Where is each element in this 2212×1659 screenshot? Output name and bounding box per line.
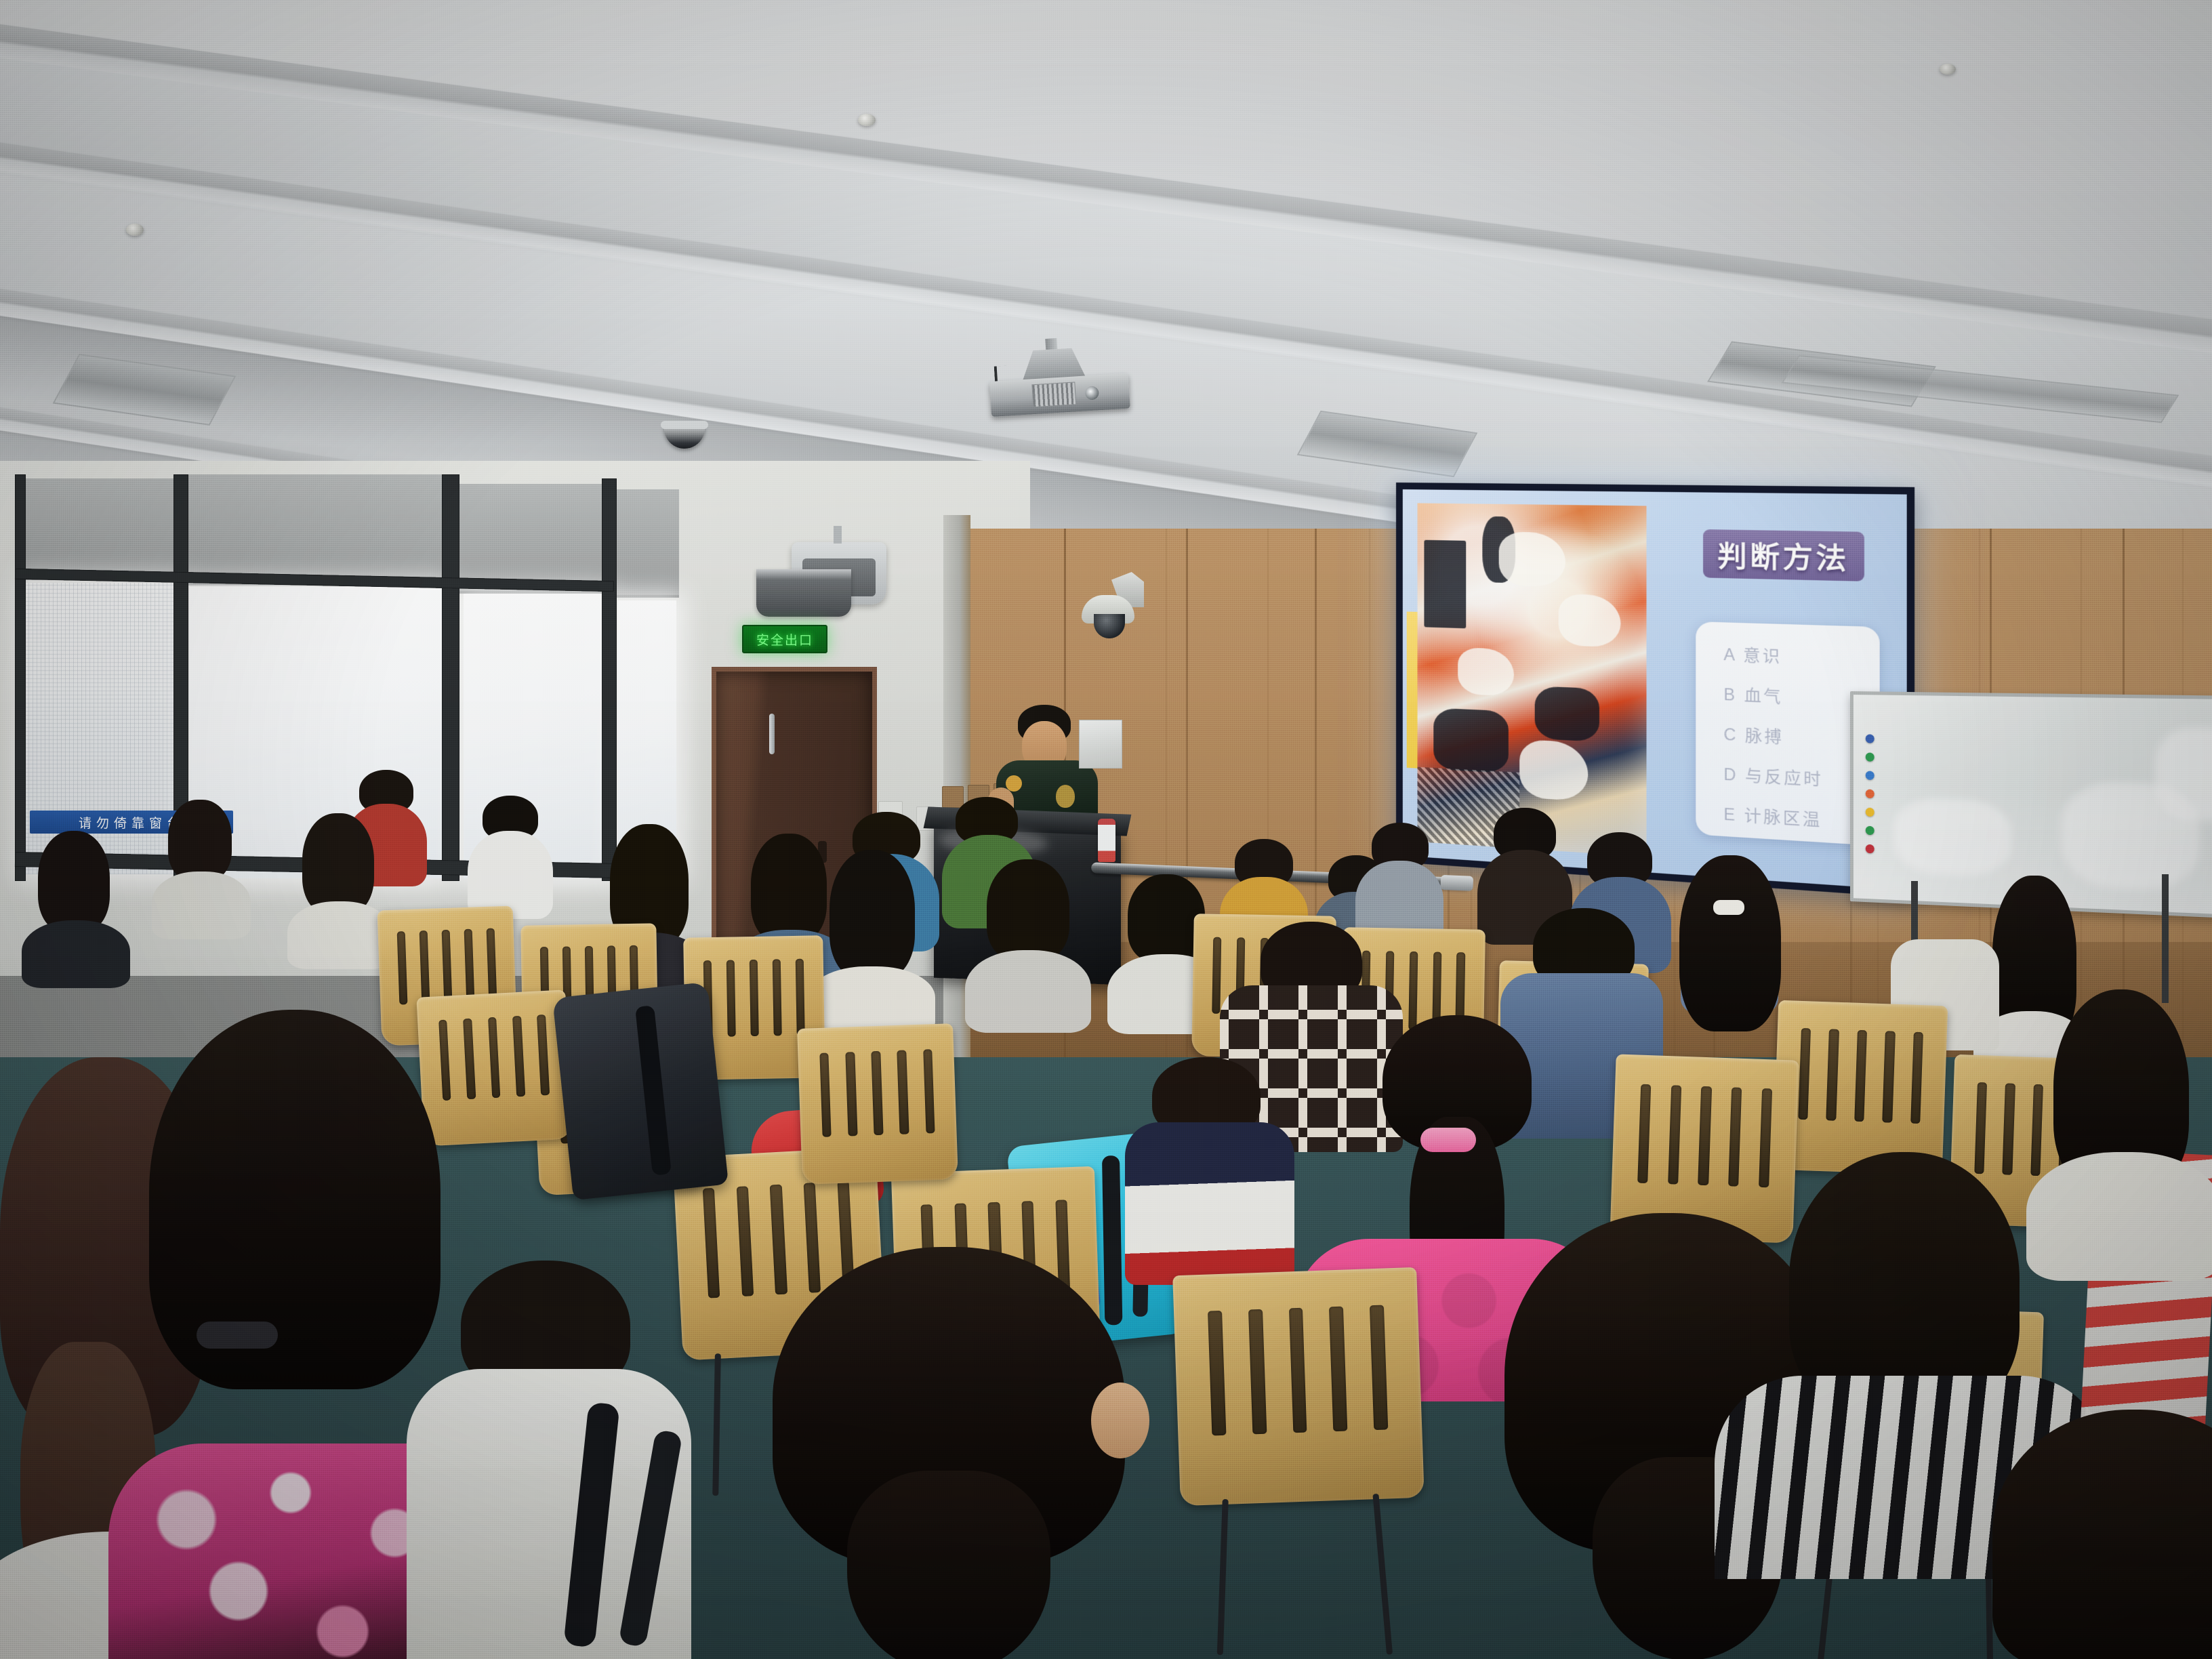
magnet-dot[interactable] [1866, 734, 1875, 743]
backpack-strap [635, 1005, 672, 1176]
ac-mount [834, 526, 842, 544]
audience-member [156, 800, 244, 935]
window-blind[interactable] [458, 484, 609, 594]
audience-member [468, 796, 553, 918]
camera-dome [1094, 614, 1125, 638]
magnet-dot[interactable] [1866, 826, 1875, 835]
audience-member [407, 1261, 691, 1659]
emergency-exit-sign: 安全出口 [742, 625, 827, 653]
door-handle[interactable] [769, 714, 775, 754]
window-blind[interactable] [20, 478, 176, 580]
rail-cap [1440, 875, 1473, 891]
black-backpack[interactable] [552, 982, 729, 1200]
ceiling-projector [981, 337, 1134, 421]
long-hair [149, 1010, 441, 1389]
pink-scrunchie [1420, 1128, 1476, 1152]
chair[interactable] [1773, 1000, 1948, 1176]
presenter-chest-badge [1056, 785, 1075, 808]
audience-member [1660, 855, 1796, 1072]
whiteboard-stand-leg [2162, 874, 2169, 1003]
white-hair-bow [1713, 900, 1744, 915]
audience-member [813, 850, 928, 1026]
long-hair [1679, 855, 1781, 1031]
projector-vent [1031, 382, 1076, 407]
ptz-dome-camera-icon [1082, 572, 1144, 638]
audience-member-foreground [691, 1247, 1193, 1659]
hair-tie [197, 1322, 278, 1349]
magnet-dot[interactable] [1866, 808, 1875, 817]
magnet-dot[interactable] [1866, 790, 1875, 798]
chair[interactable] [797, 1023, 958, 1185]
lecture-hall-photo: 请勿倚靠窗台 安全出口 判断方法 A 意 [0, 0, 2212, 1659]
audience-member [291, 813, 386, 956]
water-bottle[interactable] [1098, 819, 1115, 862]
ceiling-downlight [126, 224, 144, 236]
wall-poster [1079, 720, 1122, 769]
window-blind[interactable] [614, 489, 679, 598]
slide-title: 判断方法 [1703, 529, 1864, 581]
ear [1091, 1382, 1149, 1458]
window-blind[interactable] [184, 474, 449, 586]
audience-member [27, 831, 122, 980]
magnet-dot[interactable] [1866, 752, 1875, 761]
audience-member-foreground [1992, 1410, 2212, 1659]
audience-member [969, 859, 1084, 1029]
audience-member [2033, 989, 2212, 1274]
slide-option: A 意识 [1723, 641, 1879, 671]
chair[interactable] [1172, 1267, 1425, 1506]
ceiling-downlight [1940, 64, 1956, 75]
whiteboard-magnets[interactable] [1866, 734, 1875, 863]
slide-photograph [1418, 503, 1647, 857]
magnet-dot[interactable] [1866, 771, 1875, 780]
ceiling-downlight [858, 114, 876, 126]
long-hair [1992, 1410, 2212, 1659]
wall-speaker [756, 569, 851, 617]
magnet-dot[interactable] [1866, 844, 1875, 854]
